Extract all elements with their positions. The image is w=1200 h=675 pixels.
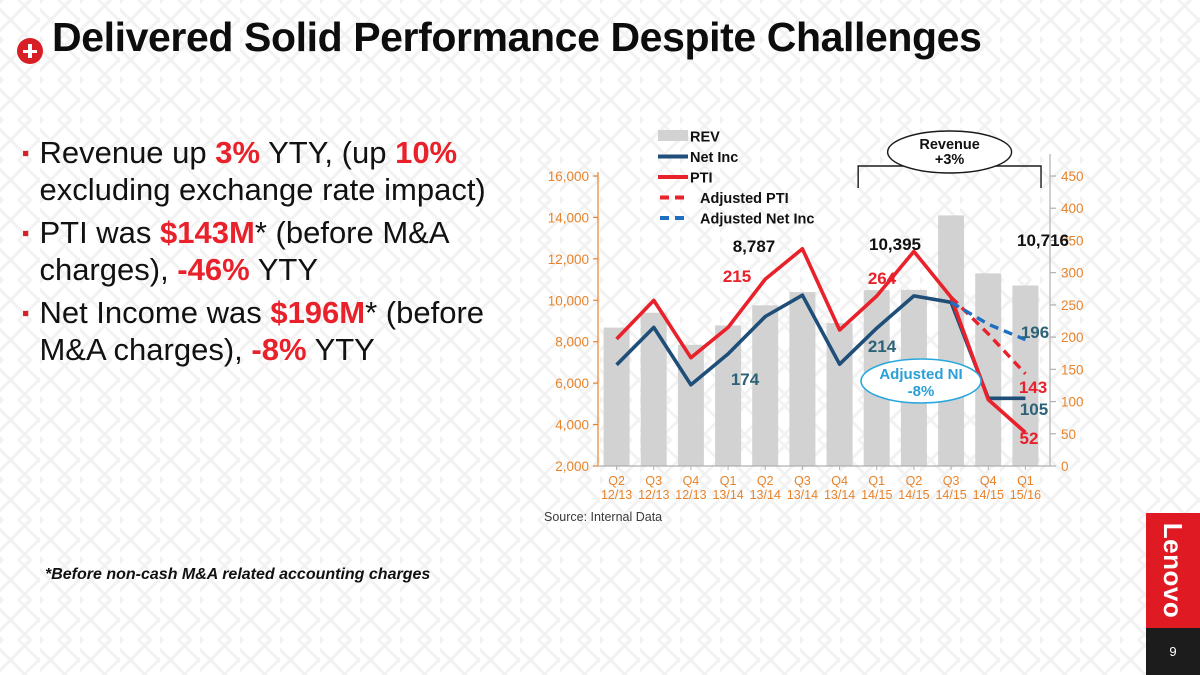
bullet-list: ▪Revenue up 3% YTY, (up 10% excluding ex…: [22, 134, 492, 374]
x-axis-tick-label-year: 14/15: [861, 488, 892, 502]
x-axis-tick-label-year: 13/14: [824, 488, 855, 502]
lenovo-wordmark: Lenovo: [1146, 513, 1200, 628]
footnote: *Before non-cash M&A related accounting …: [45, 566, 430, 584]
callout-line2: +3%: [935, 152, 965, 168]
right-axis-tick-label: 200: [1061, 330, 1084, 345]
chart-svg: 2,0004,0006,0008,00010,00012,00014,00016…: [536, 126, 1106, 526]
bullet-plain: YTY: [307, 332, 375, 367]
right-axis-tick-label: 50: [1061, 427, 1076, 442]
chart-value-label: 105: [1020, 400, 1048, 419]
bullet-item-2: ▪PTI was $143M* (before M&A charges), -4…: [22, 214, 492, 288]
plus-circle-icon: [17, 38, 43, 64]
x-axis-tick-label-quarter: Q1: [1017, 474, 1034, 488]
chart-value-label: 174: [731, 370, 760, 389]
x-axis-tick-label-year: 14/15: [973, 488, 1004, 502]
x-axis-tick-label-year: 12/13: [675, 488, 706, 502]
bullet-highlight: $143M: [160, 215, 255, 250]
right-axis-tick-label: 250: [1061, 298, 1084, 313]
lenovo-logo: Lenovo: [1146, 513, 1200, 628]
chart-value-label: 264: [868, 269, 897, 288]
legend-item: PTI: [658, 171, 713, 187]
x-axis-tick-label-year: 13/14: [750, 488, 781, 502]
left-axis-tick-label: 10,000: [548, 293, 589, 308]
bar-rev: [789, 292, 815, 466]
bullet-marker-icon: ▪: [22, 294, 29, 334]
bullet-plain: excluding exchange rate impact): [39, 172, 485, 207]
chart-value-label: 10,716: [1017, 231, 1069, 250]
legend-label: Adjusted Net Inc: [700, 212, 814, 228]
left-axis-tick-label: 14,000: [548, 210, 589, 225]
left-axis-tick-label: 4,000: [555, 418, 589, 433]
bullet-text: PTI was $143M* (before M&A charges), -46…: [39, 214, 492, 288]
x-axis-tick-label-year: 13/14: [712, 488, 743, 502]
bullet-marker-icon: ▪: [22, 214, 29, 254]
right-axis-tick-label: 0: [1061, 459, 1069, 474]
bullet-highlight: $196M: [270, 295, 365, 330]
source-note: Source: Internal Data: [544, 510, 662, 524]
legend-label: REV: [690, 130, 720, 146]
x-axis-tick-label-quarter: Q2: [906, 474, 923, 488]
x-axis-tick-label-year: 14/15: [935, 488, 966, 502]
chart-value-label: 196: [1021, 323, 1049, 342]
bullet-marker-icon: ▪: [22, 134, 29, 174]
slide-canvas: Delivered Solid Performance Despite Chal…: [0, 0, 1200, 675]
callout-line1: Adjusted NI: [879, 366, 962, 383]
adjusted-ni-callout: Adjusted NI-8%: [861, 359, 981, 403]
bar-rev: [938, 215, 964, 466]
x-axis-tick-label-quarter: Q3: [794, 474, 811, 488]
x-axis-tick-label-year: 14/15: [898, 488, 929, 502]
bullet-item-1: ▪Revenue up 3% YTY, (up 10% excluding ex…: [22, 134, 492, 208]
legend-swatch-bar: [658, 130, 688, 141]
legend-item: Net Inc: [658, 150, 738, 166]
bullet-highlight: -46%: [177, 252, 249, 287]
chart-value-label: 215: [723, 267, 751, 286]
bullet-plain: YTY: [250, 252, 318, 287]
bullet-highlight: 10%: [395, 135, 457, 170]
right-axis-tick-label: 150: [1061, 362, 1084, 377]
x-axis-tick-label-year: 12/13: [601, 488, 632, 502]
chart-value-label: 8,787: [733, 237, 776, 256]
bullet-item-3: ▪Net Income was $196M* (before M&A charg…: [22, 294, 492, 368]
page-number: 9: [1146, 628, 1200, 675]
x-axis-tick-label-quarter: Q3: [943, 474, 960, 488]
legend-item: REV: [658, 130, 720, 146]
x-axis-tick-label-quarter: Q2: [608, 474, 625, 488]
left-axis-tick-label: 2,000: [555, 459, 589, 474]
legend-label: PTI: [690, 171, 713, 187]
performance-chart: 2,0004,0006,0008,00010,00012,00014,00016…: [536, 126, 1106, 526]
bars-group: [604, 215, 1039, 466]
left-axis-tick-label: 6,000: [555, 376, 589, 391]
title-bar: Delivered Solid Performance Despite Chal…: [0, 6, 1140, 68]
right-axis-tick-label: 450: [1061, 169, 1084, 184]
legend-label: Net Inc: [690, 150, 738, 166]
right-axis-tick-label: 300: [1061, 266, 1084, 281]
legend-item: Adjusted Net Inc: [660, 212, 814, 228]
bar-rev: [678, 345, 704, 466]
bar-rev: [604, 328, 630, 466]
bullet-plain: PTI was: [39, 215, 160, 250]
page-title: Delivered Solid Performance Despite Chal…: [52, 14, 1140, 61]
callout-line2: -8%: [908, 383, 935, 400]
bullet-highlight: 3%: [215, 135, 260, 170]
left-axis-tick-label: 8,000: [555, 335, 589, 350]
right-axis-tick-label: 400: [1061, 201, 1084, 216]
bullet-text: Revenue up 3% YTY, (up 10% excluding exc…: [39, 134, 492, 208]
left-axis-tick-label: 12,000: [548, 252, 589, 267]
legend-label: Adjusted PTI: [700, 191, 789, 207]
chart-value-label: 10,395: [869, 235, 921, 254]
x-axis-tick-label-quarter: Q1: [720, 474, 737, 488]
right-axis-tick-label: 100: [1061, 395, 1084, 410]
chart-value-label: 52: [1020, 429, 1039, 448]
x-axis-tick-label-quarter: Q3: [645, 474, 662, 488]
callout-line1: Revenue: [919, 137, 979, 153]
legend-item: Adjusted PTI: [660, 191, 789, 207]
bullet-highlight: -8%: [251, 332, 306, 367]
bullet-plain: YTY, (up: [260, 135, 395, 170]
x-axis-tick-label-quarter: Q4: [831, 474, 848, 488]
x-axis-tick-label-year: 13/14: [787, 488, 818, 502]
x-axis-tick-label-quarter: Q2: [757, 474, 774, 488]
legend-group: REVNet IncPTIAdjusted PTIAdjusted Net In…: [658, 130, 814, 228]
x-axis-tick-label-quarter: Q1: [868, 474, 885, 488]
x-axis-tick-label-quarter: Q4: [683, 474, 700, 488]
bullet-plain: Net Income was: [39, 295, 270, 330]
x-axis-tick-label-quarter: Q4: [980, 474, 997, 488]
chart-value-label: 143: [1019, 378, 1047, 397]
x-axis-tick-label-year: 15/16: [1010, 488, 1041, 502]
left-axis-tick-label: 16,000: [548, 169, 589, 184]
revenue-callout: Revenue+3%: [888, 131, 1012, 173]
bullet-plain: Revenue up: [39, 135, 215, 170]
x-axis-tick-label-year: 12/13: [638, 488, 669, 502]
chart-value-label: 214: [868, 337, 897, 356]
bullet-text: Net Income was $196M* (before M&A charge…: [39, 294, 492, 368]
